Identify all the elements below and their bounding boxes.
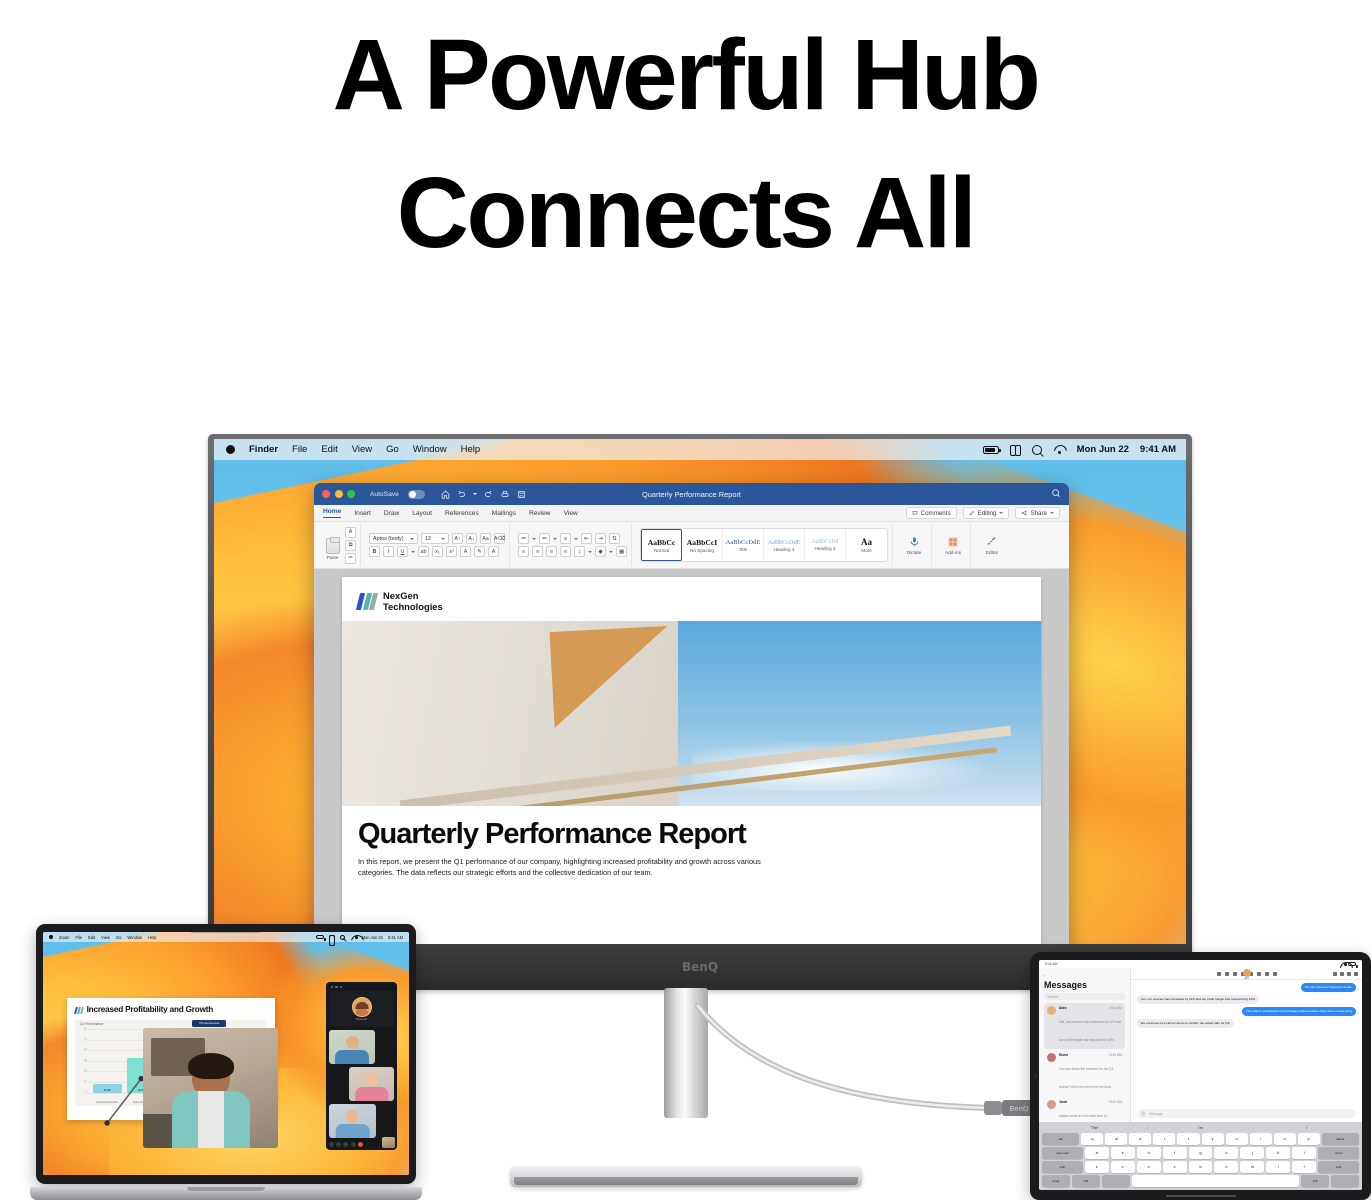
share-icon bbox=[1021, 510, 1027, 516]
tablet-time: 9:41 AM bbox=[1045, 962, 1057, 966]
key-i[interactable]: i bbox=[1250, 1133, 1272, 1145]
style-name: More bbox=[861, 548, 871, 553]
dictate-button[interactable]: Dictate bbox=[901, 535, 927, 555]
key-delete[interactable]: delete bbox=[1322, 1133, 1359, 1145]
key-w[interactable]: w bbox=[1105, 1133, 1127, 1145]
brand-line-1: NexGen bbox=[383, 590, 418, 601]
predictive-text-bar[interactable]: "The" I'm I bbox=[1042, 1124, 1359, 1131]
ribbon[interactable]: Paste A ⧉ ✂ Aptos (body) bbox=[314, 522, 1069, 569]
reply-icon[interactable] bbox=[1333, 972, 1337, 976]
key-e[interactable]: e bbox=[1129, 1133, 1151, 1145]
tablet-camera-icon bbox=[1034, 1075, 1037, 1078]
peer-name: Alex bbox=[1244, 977, 1249, 980]
copy-button[interactable]: ⧉ bbox=[345, 540, 356, 551]
underline-button[interactable]: U bbox=[397, 546, 408, 557]
y-tick: 15 bbox=[84, 1081, 87, 1084]
laptop-menubar-time[interactable]: 9:41 AM bbox=[388, 935, 403, 940]
chevron-down-icon[interactable] bbox=[609, 551, 613, 553]
y-tick: 45 bbox=[84, 1059, 87, 1062]
participant-figure bbox=[335, 1110, 370, 1138]
change-case-button[interactable]: Aa bbox=[480, 533, 491, 544]
nexgen-logo-icon bbox=[356, 593, 378, 610]
key-l[interactable]: l bbox=[1292, 1147, 1316, 1159]
share-icon[interactable] bbox=[343, 1142, 348, 1147]
avatar bbox=[1243, 969, 1251, 977]
key-numbers-right[interactable]: 123 bbox=[1301, 1175, 1329, 1187]
align-right-button[interactable]: ≡ bbox=[546, 546, 557, 557]
styles-group[interactable]: AaBbCc Normal AaBbCcI No Spacing AaBbCcD… bbox=[636, 524, 893, 566]
highlight-button[interactable]: ✎ bbox=[474, 546, 485, 557]
style-sample: Aa bbox=[861, 537, 872, 547]
addins-group[interactable]: Add-ins bbox=[936, 524, 971, 566]
shrink-font-button[interactable]: A↓ bbox=[466, 533, 477, 544]
document-canvas[interactable]: NexGen Technologies Quarterl bbox=[314, 569, 1069, 944]
strikethrough-button[interactable]: ab bbox=[418, 546, 429, 557]
macos-menu-bar[interactable]: Finder File Edit View Go Window Help Mon… bbox=[214, 439, 1186, 460]
chevron-down-icon bbox=[1050, 512, 1054, 514]
key-tab[interactable]: tab bbox=[1042, 1133, 1079, 1145]
chevron-down-icon[interactable] bbox=[532, 538, 536, 540]
pencil-icon bbox=[969, 510, 975, 516]
y-tick: 30 bbox=[84, 1070, 87, 1073]
tablet-status-bar: 9:41 AM bbox=[1039, 960, 1362, 968]
menubar-date[interactable]: Mon Jun 22 bbox=[1077, 444, 1129, 455]
key-v[interactable]: v bbox=[1163, 1161, 1187, 1173]
key-m[interactable]: m bbox=[1240, 1161, 1264, 1173]
key-h[interactable]: h bbox=[1214, 1147, 1238, 1159]
laptop-base bbox=[30, 1187, 422, 1200]
style-more[interactable]: Aa More bbox=[846, 529, 887, 561]
tab-draw[interactable]: Draw bbox=[384, 510, 399, 517]
on-screen-keyboard[interactable]: "The" I'm I tab q w e r t y u i o bbox=[1039, 1122, 1362, 1190]
message-input[interactable]: iMessage bbox=[1137, 1109, 1356, 1118]
quick-access-toolbar[interactable] bbox=[441, 490, 526, 499]
slide-title: Increased Profitability and Growth bbox=[87, 1005, 214, 1014]
key-d[interactable]: d bbox=[1137, 1147, 1161, 1159]
style-sample: AaBbCcDd bbox=[811, 539, 838, 545]
key-space[interactable] bbox=[1132, 1175, 1299, 1187]
control-center-icon[interactable] bbox=[329, 935, 335, 940]
camera-icon[interactable] bbox=[336, 1142, 341, 1147]
key-caps-lock[interactable]: caps lock bbox=[1042, 1147, 1083, 1159]
numbering-button[interactable]: ≕ bbox=[539, 533, 550, 544]
chevron-down-icon bbox=[999, 512, 1003, 514]
wifi-icon[interactable] bbox=[1053, 445, 1066, 454]
key-o[interactable]: o bbox=[1274, 1133, 1296, 1145]
editing-label: Editing bbox=[978, 510, 997, 517]
brand-name: NexGen Technologies bbox=[383, 591, 443, 612]
window-controls[interactable] bbox=[322, 490, 355, 498]
thread-toolbar[interactable]: Alex bbox=[1131, 968, 1362, 980]
key-n[interactable]: n bbox=[1214, 1161, 1238, 1173]
key-shift-left[interactable]: shift bbox=[1042, 1161, 1083, 1173]
conversation-time: 9:41 AM bbox=[1110, 1006, 1122, 1010]
page-title: A Powerful Hub Connects All bbox=[0, 0, 1371, 282]
document-paragraph: In this report, we present the Q1 perfor… bbox=[358, 857, 788, 878]
editor-group[interactable]: Editor bbox=[975, 524, 1009, 566]
video-tile-participant[interactable] bbox=[349, 1067, 394, 1101]
wifi-icon[interactable] bbox=[350, 935, 357, 940]
laptop-menu-item-file[interactable]: File bbox=[75, 935, 82, 940]
conversation-list[interactable]: ‹ Messages Search Alex 9:41 AM bbox=[1039, 968, 1131, 1122]
share-button[interactable]: Share bbox=[1015, 507, 1060, 519]
apple-logo-icon[interactable] bbox=[49, 935, 53, 939]
editor-button[interactable]: Editor bbox=[979, 535, 1005, 555]
monitor-brand-label: BenQ bbox=[682, 960, 718, 974]
tab-view[interactable]: View bbox=[564, 510, 578, 517]
multilevel-list-button[interactable]: ≡ bbox=[560, 533, 571, 544]
style-name: Heading 2 bbox=[815, 546, 836, 551]
style-title[interactable]: AaBbCcDdE Title bbox=[723, 529, 764, 561]
style-name: Normal bbox=[654, 548, 669, 553]
emoji-icon[interactable] bbox=[1257, 972, 1261, 976]
styles-gallery[interactable]: AaBbCc Normal AaBbCcI No Spacing AaBbCcD… bbox=[640, 528, 888, 562]
laptop-screen: Zoom File Edit View Go Window Help Mon J… bbox=[43, 932, 409, 1175]
chevron-down-icon bbox=[441, 538, 445, 540]
comment-icon bbox=[912, 510, 918, 516]
tablet-device: 9:41 AM ‹ Messages Search bbox=[1030, 952, 1371, 1200]
tab-mailings[interactable]: Mailings bbox=[492, 510, 516, 517]
conversation-name: Rumi 9:25 AM bbox=[1059, 1053, 1122, 1057]
editor-label: Editor bbox=[986, 550, 998, 555]
laptop-device: Zoom File Edit View Go Window Help Mon J… bbox=[30, 924, 422, 1200]
clear-formatting-button[interactable]: A⌫ bbox=[494, 533, 505, 544]
key-a[interactable]: a bbox=[1085, 1147, 1109, 1159]
superscript-button[interactable]: x² bbox=[446, 546, 457, 557]
conversation-thread[interactable]: Alex The Q1 Customer Success results. bbox=[1131, 968, 1362, 1122]
prediction-3[interactable]: I bbox=[1254, 1126, 1359, 1130]
video-tile-participant[interactable] bbox=[329, 1030, 375, 1064]
avatar bbox=[1047, 1006, 1056, 1015]
tablet-home-indicator[interactable] bbox=[1166, 1195, 1236, 1197]
grow-font-button[interactable]: A↑ bbox=[452, 533, 463, 544]
key-option[interactable] bbox=[1102, 1175, 1130, 1187]
format-painter-button[interactable]: A bbox=[345, 527, 356, 538]
avatar bbox=[352, 997, 372, 1017]
laptop-menu-item-window[interactable]: Window bbox=[127, 935, 142, 940]
conversation-preview: Yes, our revenue has increased by 11% an… bbox=[1059, 1020, 1121, 1042]
messages-app[interactable]: ‹ Messages Search Alex 9:41 AM bbox=[1039, 968, 1362, 1122]
tablet-body: 9:41 AM ‹ Messages Search bbox=[1030, 952, 1371, 1200]
align-center-button[interactable]: ≡ bbox=[532, 546, 543, 557]
end-call-icon[interactable] bbox=[358, 1142, 363, 1147]
chevron-down-icon[interactable] bbox=[553, 538, 557, 540]
share-label: Share bbox=[1030, 510, 1047, 517]
battery-icon bbox=[1348, 962, 1356, 966]
menu-item-go[interactable]: Go bbox=[386, 444, 399, 455]
key-s[interactable]: s bbox=[1111, 1147, 1135, 1159]
font-size-value: 12 bbox=[425, 536, 438, 542]
document-logo: NexGen Technologies bbox=[358, 591, 1025, 612]
comments-label: Comments bbox=[921, 510, 951, 517]
style-heading-1[interactable]: AaBbCcDdE Heading 1 bbox=[764, 529, 805, 561]
message-bubble-outgoing: The Q1 Customer Success results. bbox=[1301, 983, 1356, 992]
messages-title: Messages bbox=[1044, 980, 1125, 990]
document-heading: Quarterly Performance Report bbox=[358, 818, 1025, 850]
save-icon[interactable] bbox=[517, 490, 526, 499]
style-no-spacing[interactable]: AaBbCcI No Spacing bbox=[682, 529, 723, 561]
keyboard-row-3[interactable]: shift z x c v b n m ! ? shift bbox=[1042, 1161, 1359, 1173]
svg-text:BenQ: BenQ bbox=[1009, 1105, 1029, 1113]
monitor-stand-neck bbox=[664, 988, 708, 1118]
increase-indent-button[interactable]: ⇥ bbox=[595, 533, 606, 544]
subscript-button[interactable]: x₂ bbox=[432, 546, 443, 557]
chevron-down-icon[interactable] bbox=[574, 538, 578, 540]
key-exclamation[interactable]: ! bbox=[1266, 1161, 1290, 1173]
tab-references[interactable]: References bbox=[445, 510, 479, 517]
dictate-label: Dictate bbox=[907, 550, 922, 555]
y-tick: 75 bbox=[84, 1038, 87, 1041]
menu-item-window[interactable]: Window bbox=[413, 444, 447, 455]
search-input[interactable]: Search bbox=[1044, 993, 1125, 1000]
chat-icon[interactable] bbox=[351, 1142, 356, 1147]
line-spacing-button[interactable]: ↕ bbox=[574, 546, 585, 557]
editing-button[interactable]: Editing bbox=[963, 507, 1010, 519]
tablet-screen: 9:41 AM ‹ Messages Search bbox=[1039, 960, 1362, 1190]
microphone-icon bbox=[909, 535, 920, 548]
key-q[interactable]: q bbox=[1081, 1133, 1103, 1145]
addins-label: Add-ins bbox=[945, 550, 961, 555]
addins-button[interactable]: Add-ins bbox=[940, 536, 966, 555]
style-sample: AaBbCcDdE bbox=[768, 539, 801, 546]
font-name-select[interactable]: Aptos (body) bbox=[369, 533, 418, 544]
menu-item-finder[interactable]: Finder bbox=[249, 444, 278, 455]
justify-button[interactable]: ≡ bbox=[560, 546, 571, 557]
style-name: Title bbox=[739, 547, 748, 552]
search-placeholder: Search bbox=[1048, 995, 1058, 999]
tab-layout[interactable]: Layout bbox=[412, 510, 432, 517]
tab-insert[interactable]: Insert bbox=[354, 510, 371, 517]
conversation-name: Josh 9:02 AM bbox=[1059, 1100, 1122, 1104]
participant-figure bbox=[335, 1036, 369, 1064]
x-tick: Customer Retention bbox=[93, 1101, 122, 1104]
prediction-2[interactable]: I'm bbox=[1148, 1126, 1254, 1130]
word-window[interactable]: AutoSave Quarterly Performance Report bbox=[314, 483, 1069, 944]
search-icon[interactable] bbox=[1032, 445, 1042, 455]
key-p[interactable]: p bbox=[1298, 1133, 1320, 1145]
font-color-button[interactable]: A bbox=[488, 546, 499, 557]
text-effects-button[interactable]: A bbox=[460, 546, 471, 557]
font-name-value: Aptos (body) bbox=[373, 536, 407, 542]
headline-line-2: Connects All bbox=[0, 144, 1371, 282]
document-title: Quarterly Performance Report bbox=[314, 490, 1069, 499]
avatar-name: Presenter bbox=[356, 1018, 367, 1021]
addins-icon bbox=[947, 536, 959, 548]
editor-pen-icon bbox=[986, 535, 998, 548]
key-k[interactable]: k bbox=[1266, 1147, 1290, 1159]
home-icon[interactable] bbox=[441, 490, 450, 499]
search-icon[interactable] bbox=[340, 935, 345, 940]
key-f[interactable]: f bbox=[1163, 1147, 1187, 1159]
undo-dropdown-icon[interactable] bbox=[473, 493, 477, 495]
key-u[interactable]: u bbox=[1226, 1133, 1248, 1145]
monitor-device: Finder File Edit View Go Window Help Mon… bbox=[208, 434, 1192, 990]
menu-item-file[interactable]: File bbox=[292, 444, 307, 455]
info-icon[interactable] bbox=[1347, 972, 1351, 976]
key-r[interactable]: r bbox=[1153, 1133, 1175, 1145]
mic-icon[interactable] bbox=[329, 1142, 334, 1147]
clipboard-group[interactable]: Paste A ⧉ ✂ bbox=[319, 524, 361, 566]
print-icon[interactable] bbox=[500, 490, 510, 499]
key-x[interactable]: x bbox=[1111, 1161, 1135, 1173]
mic-icon[interactable] bbox=[1273, 972, 1277, 976]
font-size-select[interactable]: 12 bbox=[421, 533, 449, 544]
key-g[interactable]: g bbox=[1189, 1147, 1213, 1159]
monitor-screen: Finder File Edit View Go Window Help Mon… bbox=[214, 439, 1186, 944]
borders-button[interactable]: ▦ bbox=[616, 546, 627, 557]
paste-button[interactable]: Paste bbox=[323, 530, 342, 560]
key-y[interactable]: y bbox=[1202, 1133, 1224, 1145]
slide-header: Increased Profitability and Growth bbox=[75, 1005, 267, 1014]
battery-icon[interactable] bbox=[316, 935, 324, 939]
message-bubbles: The Q1 Customer Success results. Yes, ou… bbox=[1131, 980, 1362, 1109]
monitor-stand-base bbox=[510, 1166, 862, 1187]
video-tile-avatar[interactable]: Presenter bbox=[329, 991, 394, 1027]
key-emoji[interactable]: emoji bbox=[1042, 1175, 1070, 1187]
tab-review[interactable]: Review bbox=[529, 510, 551, 517]
document-hero-image bbox=[342, 621, 1041, 806]
align-left-button[interactable]: ≡ bbox=[518, 546, 529, 557]
paragraph-group[interactable]: ≔ ≕ ≡ ⇤ ⇥ ⇅ ≡ bbox=[514, 524, 632, 566]
chart-caption: Q1 Performance bbox=[80, 1022, 103, 1026]
list-item[interactable]: Rumi 9:25 AM Can you share the numbers f… bbox=[1044, 1050, 1125, 1096]
video-tile-participant[interactable] bbox=[329, 1104, 376, 1138]
style-name: Heading 1 bbox=[774, 547, 795, 552]
chevron-down-icon bbox=[410, 538, 414, 540]
sort-button[interactable]: ⇅ bbox=[609, 533, 620, 544]
style-name: No Spacing bbox=[690, 548, 714, 553]
tab-home[interactable]: Home bbox=[323, 508, 341, 518]
key-z[interactable]: z bbox=[1085, 1161, 1109, 1173]
conversation-time: 9:25 AM bbox=[1110, 1053, 1122, 1057]
style-heading-2[interactable]: AaBbCcDd Heading 2 bbox=[805, 529, 846, 561]
paste-icon bbox=[326, 538, 340, 554]
laptop-menu-item-zoom[interactable]: Zoom bbox=[59, 935, 69, 940]
laptop-menubar-date[interactable]: Mon Jun 22 bbox=[362, 935, 383, 940]
prediction-1[interactable]: "The" bbox=[1042, 1126, 1148, 1130]
menu-item-help[interactable]: Help bbox=[461, 444, 481, 455]
key-question[interactable]: ? bbox=[1292, 1161, 1316, 1173]
back-icon[interactable]: ‹ bbox=[1044, 973, 1125, 978]
chart-annotation: 7% Improvement bbox=[192, 1020, 226, 1027]
key-hide-keyboard[interactable] bbox=[1331, 1175, 1359, 1187]
close-icon[interactable] bbox=[322, 490, 330, 498]
keyboard-row-2[interactable]: caps lock a s d f g h j k l return bbox=[1042, 1147, 1359, 1159]
pencil-icon[interactable] bbox=[1233, 972, 1237, 976]
key-j[interactable]: j bbox=[1240, 1147, 1264, 1159]
list-item[interactable]: Alex 9:41 AM Yes, our revenue has increa… bbox=[1044, 1003, 1125, 1049]
chevron-down-icon[interactable] bbox=[411, 551, 415, 553]
laptop-lid: Zoom File Edit View Go Window Help Mon J… bbox=[36, 924, 416, 1184]
y-tick: 0 bbox=[86, 1092, 87, 1095]
add-attachment-icon[interactable] bbox=[1141, 1111, 1146, 1116]
menu-item-view[interactable]: View bbox=[352, 444, 372, 455]
laptop-menu-item-go[interactable]: Go bbox=[116, 935, 121, 940]
key-b[interactable]: b bbox=[1189, 1161, 1213, 1173]
laptop-menu-item-edit[interactable]: Edit bbox=[88, 935, 95, 940]
message-placeholder: iMessage bbox=[1149, 1112, 1163, 1116]
italic-icon[interactable] bbox=[1225, 972, 1229, 976]
menu-item-edit[interactable]: Edit bbox=[321, 444, 337, 455]
wifi-icon bbox=[1339, 962, 1345, 966]
key-return[interactable]: return bbox=[1318, 1147, 1359, 1159]
redo-icon[interactable] bbox=[484, 490, 493, 499]
conversation-preview: Can you share the numbers for the Q1 rev… bbox=[1059, 1067, 1113, 1089]
autosave-toggle[interactable] bbox=[408, 490, 425, 499]
forward-icon[interactable] bbox=[1340, 972, 1344, 976]
chevron-down-icon[interactable] bbox=[588, 551, 592, 553]
bold-icon[interactable] bbox=[1217, 972, 1221, 976]
brand-line-2: Technologies bbox=[383, 601, 443, 612]
message-bubble-incoming: Yes, our revenue has increased by 11% an… bbox=[1137, 995, 1259, 1004]
photo-icon[interactable] bbox=[1265, 972, 1269, 976]
presenter-video bbox=[143, 1028, 278, 1148]
search-icon[interactable] bbox=[1354, 972, 1358, 976]
ribbon-tabs[interactable]: Home Insert Draw Layout References Maili… bbox=[314, 505, 1069, 522]
message-bubble-outgoing: The team's contributions and strategy im… bbox=[1242, 1007, 1356, 1016]
cut-button[interactable]: ✂ bbox=[345, 553, 356, 564]
message-bubble-incoming: We could set up a call tomorrow to confi… bbox=[1137, 1019, 1234, 1028]
peer-info[interactable]: Alex bbox=[1243, 969, 1251, 980]
comments-button[interactable]: Comments bbox=[906, 507, 957, 519]
nexgen-logo-icon bbox=[74, 1007, 83, 1014]
laptop-menu-item-help[interactable]: Help bbox=[148, 935, 156, 940]
style-sample: AaBbCcDdE bbox=[726, 539, 761, 546]
keyboard-row-4[interactable]: emoji 123 123 bbox=[1042, 1175, 1359, 1187]
chart-y-axis: 90 75 60 45 30 15 0 bbox=[77, 1029, 87, 1093]
shading-button[interactable]: ◆ bbox=[595, 546, 606, 557]
battery-icon[interactable] bbox=[983, 446, 999, 454]
autosave-label: AutoSave bbox=[370, 491, 399, 498]
promo-page: A Powerful Hub Connects All BenQ Finder … bbox=[0, 0, 1371, 1200]
word-titlebar[interactable]: AutoSave Quarterly Performance Report bbox=[314, 483, 1069, 505]
bold-button[interactable]: B bbox=[369, 546, 380, 557]
keyboard-row-1[interactable]: tab q w e r t y u i o p delete bbox=[1042, 1133, 1359, 1145]
video-call-panel[interactable]: Presenter bbox=[326, 982, 397, 1150]
key-t[interactable]: t bbox=[1177, 1133, 1199, 1145]
undo-icon[interactable] bbox=[457, 490, 466, 499]
style-sample: AaBbCcI bbox=[687, 538, 717, 547]
italic-button[interactable]: I bbox=[383, 546, 394, 557]
y-tick: 60 bbox=[84, 1049, 87, 1052]
conversation-name: Alex 9:41 AM bbox=[1059, 1006, 1122, 1010]
apple-logo-icon[interactable] bbox=[226, 445, 235, 454]
control-center-icon[interactable] bbox=[1010, 445, 1021, 454]
style-normal[interactable]: AaBbCc Normal bbox=[641, 529, 682, 561]
maximize-icon[interactable] bbox=[347, 490, 355, 498]
document-page[interactable]: NexGen Technologies Quarterl bbox=[342, 577, 1041, 944]
font-group[interactable]: Aptos (body) 12 A↑ A↓ Aa A⌫ bbox=[365, 524, 510, 566]
avatar bbox=[1047, 1053, 1056, 1062]
laptop-menu-bar[interactable]: Zoom File Edit View Go Window Help Mon J… bbox=[43, 932, 409, 942]
laptop-menu-item-view[interactable]: View bbox=[101, 935, 110, 940]
thread-actions[interactable] bbox=[1333, 972, 1358, 976]
decrease-indent-button[interactable]: ⇤ bbox=[581, 533, 592, 544]
bullets-button[interactable]: ≔ bbox=[518, 533, 529, 544]
voice-group[interactable]: Dictate bbox=[897, 524, 932, 566]
key-shift-right[interactable]: shift bbox=[1318, 1161, 1359, 1173]
headline-line-1: A Powerful Hub bbox=[333, 19, 1039, 131]
avatar bbox=[1047, 1100, 1056, 1109]
word-search-icon[interactable] bbox=[1051, 485, 1061, 503]
key-numbers-left[interactable]: 123 bbox=[1072, 1175, 1100, 1187]
key-c[interactable]: c bbox=[1137, 1161, 1161, 1173]
minimize-icon[interactable] bbox=[335, 490, 343, 498]
menubar-time[interactable]: 9:41 AM bbox=[1140, 444, 1176, 455]
style-sample: AaBbCc bbox=[648, 538, 675, 547]
paste-label: Paste bbox=[327, 555, 339, 560]
self-view-thumbnail[interactable] bbox=[382, 1137, 395, 1148]
